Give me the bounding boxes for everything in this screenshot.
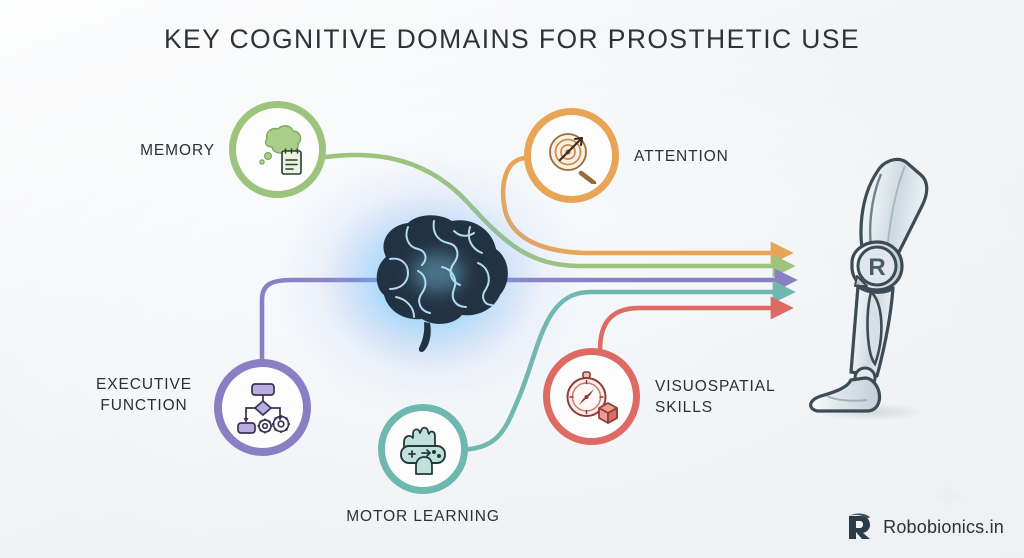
brand-name: Robobionics.in <box>883 517 1004 538</box>
node-motor-learning[interactable] <box>378 404 468 494</box>
brain-icon <box>330 205 530 355</box>
target-magnifier-icon <box>544 128 600 184</box>
knee-logo-text: R <box>868 254 885 281</box>
central-brain <box>330 205 530 355</box>
node-label-motor-learning: MOTOR LEARNING <box>318 507 528 528</box>
page-title: KEY COGNITIVE DOMAINS FOR PROSTHETIC USE <box>0 24 1024 55</box>
robobionics-r-logo <box>845 512 875 542</box>
infographic-canvas: KEY COGNITIVE DOMAINS FOR PROSTHETIC USE <box>0 0 1024 558</box>
prosthetic-leg-icon: R <box>805 150 980 450</box>
node-label-memory: MEMORY <box>60 141 215 162</box>
branding[interactable]: Robobionics.in <box>845 512 1004 542</box>
edge-visuospatial-skills <box>600 308 778 350</box>
compass-cube-icon <box>563 368 621 426</box>
node-label-executive-function: EXECUTIVE FUNCTION <box>80 375 208 417</box>
node-attention[interactable] <box>524 108 619 203</box>
hands-game-controller-icon <box>396 422 450 476</box>
node-executive-function[interactable] <box>214 359 311 456</box>
thought-cloud-notepad-icon <box>249 121 307 179</box>
node-visuospatial-skills[interactable] <box>543 348 640 445</box>
flowchart-gears-icon <box>234 379 292 437</box>
node-memory[interactable] <box>229 101 326 198</box>
node-label-attention: ATTENTION <box>634 147 824 168</box>
sparkle-icon <box>932 480 966 514</box>
